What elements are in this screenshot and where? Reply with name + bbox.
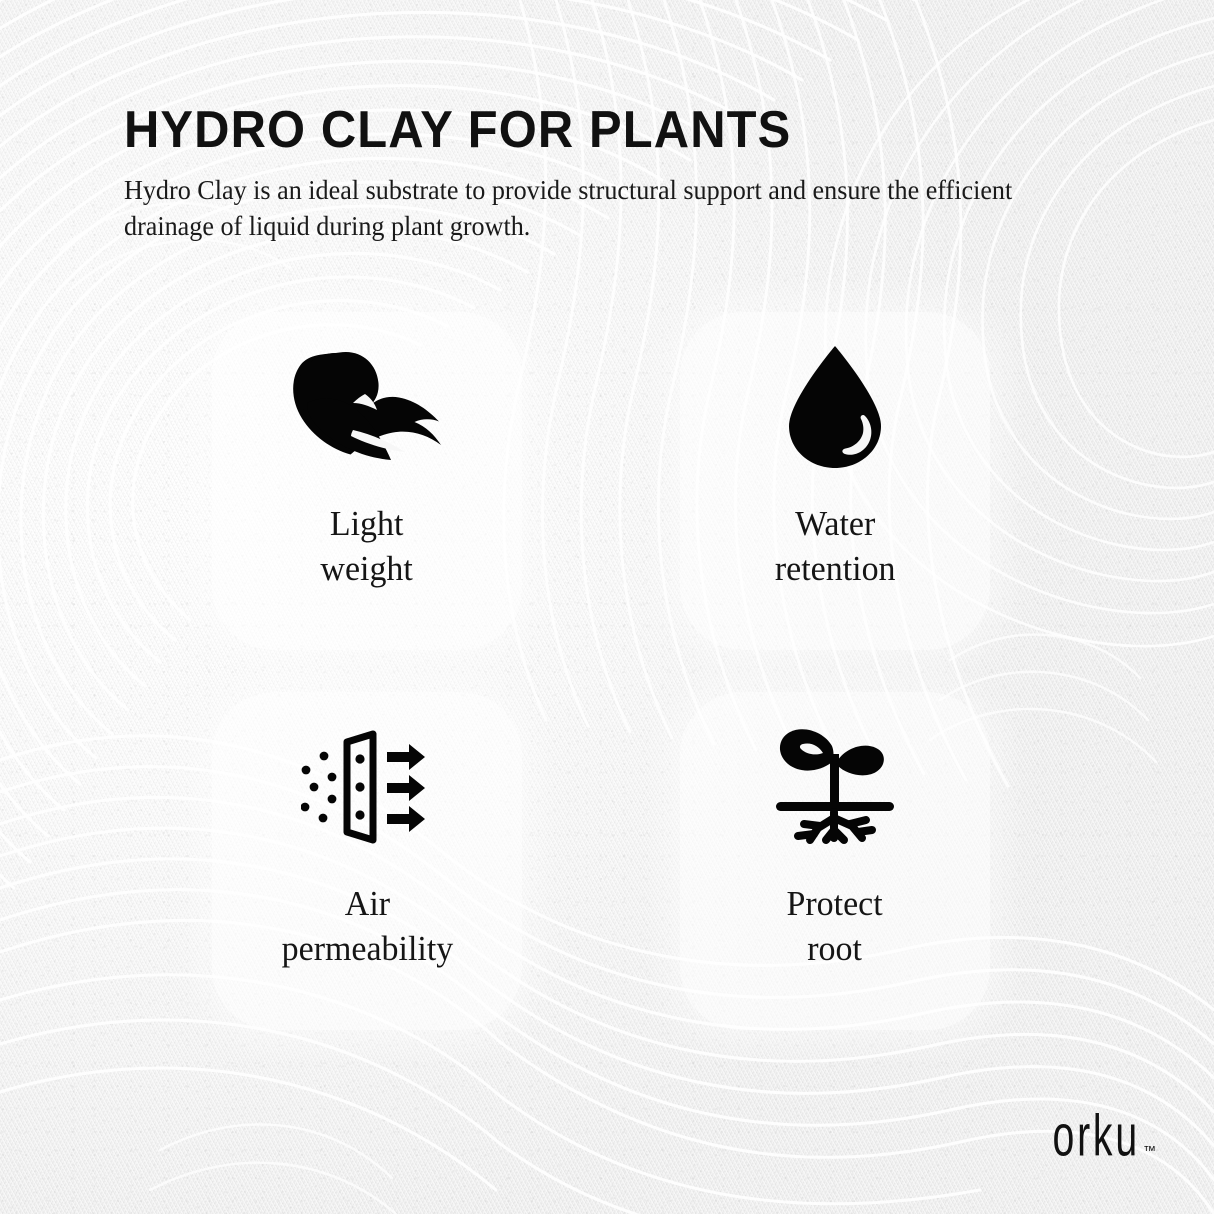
poster: HYDRO CLAY FOR PLANTS Hydro Clay is an i…	[0, 0, 1214, 1214]
feature-card-label: Light weight	[321, 502, 413, 592]
seedling-root-icon	[680, 692, 990, 882]
feature-card-protect-root[interactable]: Protect root	[680, 692, 990, 1030]
trademark-symbol: ™	[1143, 1143, 1156, 1158]
feature-card-air-permeability[interactable]: Air permeability	[212, 692, 522, 1030]
feature-card-grid: Light weight Water retention	[212, 312, 992, 1032]
water-drop-icon	[680, 312, 990, 502]
header: HYDRO CLAY FOR PLANTS Hydro Clay is an i…	[124, 103, 1124, 244]
page-title: HYDRO CLAY FOR PLANTS	[124, 103, 1064, 158]
air-permeability-icon	[212, 692, 522, 882]
brand-logo: orku ™	[1015, 1112, 1156, 1162]
feature-card-label: Air permeability	[281, 882, 453, 972]
feather-icon	[212, 312, 522, 502]
feature-card-label: Water retention	[775, 502, 896, 592]
page-subtitle: Hydro Clay is an ideal substrate to prov…	[124, 172, 1065, 245]
feature-card-light-weight[interactable]: Light weight	[212, 312, 522, 650]
feature-card-label: Protect root	[787, 882, 883, 972]
brand-name: orku	[1053, 1109, 1140, 1162]
feature-card-water-retention[interactable]: Water retention	[680, 312, 990, 650]
